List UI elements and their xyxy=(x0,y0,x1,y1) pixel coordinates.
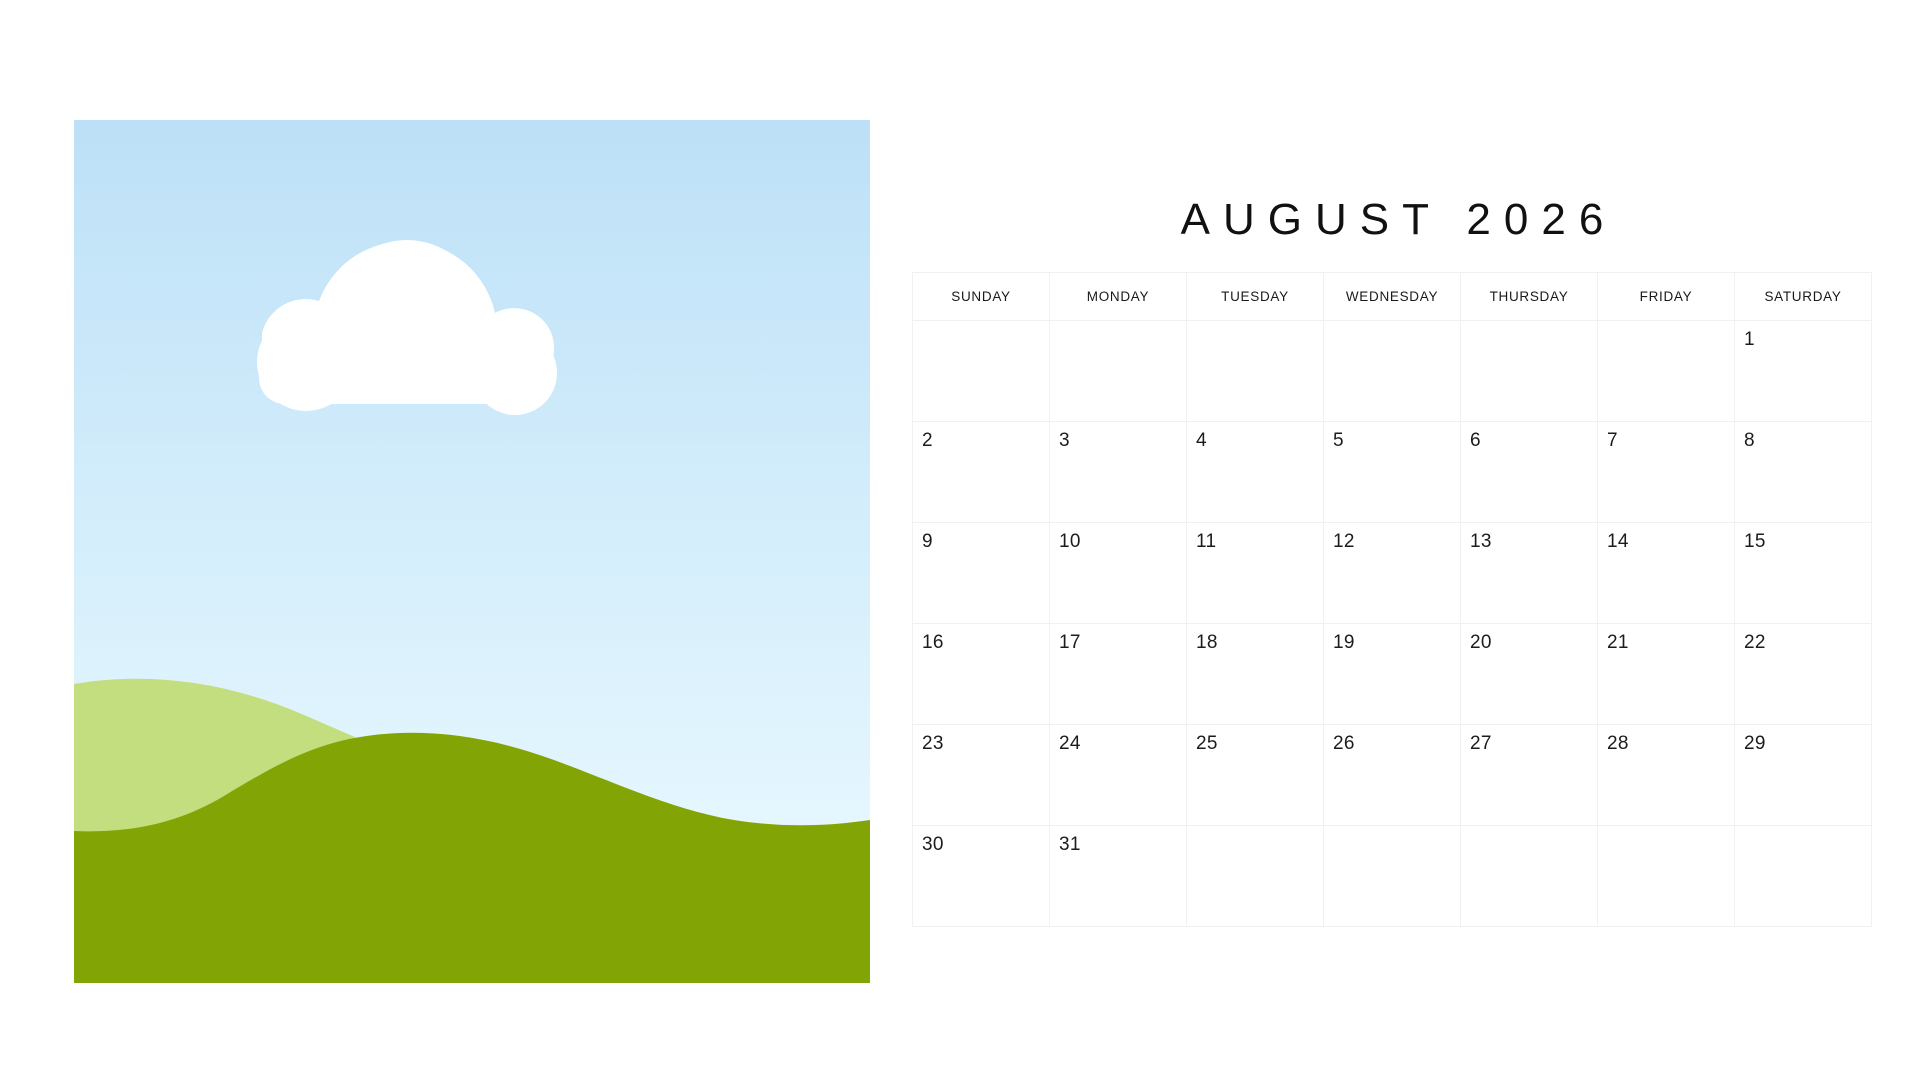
day-cell[interactable]: 7 xyxy=(1598,422,1735,523)
day-cell[interactable]: 27 xyxy=(1461,725,1598,826)
weekday-header-wednesday: WEDNESDAY xyxy=(1324,273,1461,321)
day-number: 6 xyxy=(1461,422,1597,450)
day-number: 1 xyxy=(1735,321,1871,349)
day-cell[interactable]: 10 xyxy=(1050,523,1187,624)
weekday-header-monday: MONDAY xyxy=(1050,273,1187,321)
day-cell[interactable]: 15 xyxy=(1735,523,1872,624)
weekday-header-friday: FRIDAY xyxy=(1598,273,1735,321)
day-number: 16 xyxy=(913,624,1049,652)
day-cell[interactable] xyxy=(1187,321,1324,422)
weekday-header-tuesday: TUESDAY xyxy=(1187,273,1324,321)
weekday-header-thursday: THURSDAY xyxy=(1461,273,1598,321)
day-cell[interactable]: 13 xyxy=(1461,523,1598,624)
day-cell[interactable] xyxy=(1324,826,1461,927)
day-cell[interactable]: 12 xyxy=(1324,523,1461,624)
day-number: 5 xyxy=(1324,422,1460,450)
day-cell[interactable]: 9 xyxy=(913,523,1050,624)
day-cell[interactable] xyxy=(1324,321,1461,422)
day-cell[interactable]: 16 xyxy=(913,624,1050,725)
day-cell[interactable]: 14 xyxy=(1598,523,1735,624)
calendar-page: AUGUST 2026 SUNDAY MONDAY TUESDAY WEDNES… xyxy=(0,0,1920,1080)
day-cell[interactable]: 8 xyxy=(1735,422,1872,523)
calendar-week-row: 16 17 18 19 20 21 22 xyxy=(913,624,1872,725)
day-cell[interactable] xyxy=(913,321,1050,422)
day-number: 26 xyxy=(1324,725,1460,753)
weekday-header-row: SUNDAY MONDAY TUESDAY WEDNESDAY THURSDAY… xyxy=(913,273,1872,321)
calendar-block: AUGUST 2026 SUNDAY MONDAY TUESDAY WEDNES… xyxy=(912,190,1872,927)
day-number: 22 xyxy=(1735,624,1871,652)
weekday-header-saturday: SATURDAY xyxy=(1735,273,1872,321)
day-number: 2 xyxy=(913,422,1049,450)
day-number: 3 xyxy=(1050,422,1186,450)
day-number: 15 xyxy=(1735,523,1871,551)
day-cell[interactable]: 6 xyxy=(1461,422,1598,523)
day-number: 12 xyxy=(1324,523,1460,551)
day-cell[interactable]: 4 xyxy=(1187,422,1324,523)
day-cell[interactable] xyxy=(1598,321,1735,422)
day-number: 9 xyxy=(913,523,1049,551)
day-number: 28 xyxy=(1598,725,1734,753)
calendar-title: AUGUST 2026 xyxy=(912,190,1872,250)
day-cell[interactable]: 11 xyxy=(1187,523,1324,624)
day-number: 23 xyxy=(913,725,1049,753)
calendar-table: SUNDAY MONDAY TUESDAY WEDNESDAY THURSDAY… xyxy=(912,272,1872,927)
day-cell[interactable]: 31 xyxy=(1050,826,1187,927)
day-cell[interactable]: 23 xyxy=(913,725,1050,826)
day-number: 10 xyxy=(1050,523,1186,551)
day-number: 25 xyxy=(1187,725,1323,753)
day-number: 20 xyxy=(1461,624,1597,652)
day-number: 24 xyxy=(1050,725,1186,753)
day-number: 21 xyxy=(1598,624,1734,652)
calendar-week-row: 9 10 11 12 13 14 15 xyxy=(913,523,1872,624)
day-cell[interactable]: 25 xyxy=(1187,725,1324,826)
day-cell[interactable]: 19 xyxy=(1324,624,1461,725)
day-cell[interactable] xyxy=(1461,826,1598,927)
day-cell[interactable]: 1 xyxy=(1735,321,1872,422)
day-number: 13 xyxy=(1461,523,1597,551)
calendar-body: 1 2 3 4 5 6 7 8 9 10 11 12 xyxy=(913,321,1872,927)
day-cell[interactable] xyxy=(1050,321,1187,422)
day-cell[interactable]: 18 xyxy=(1187,624,1324,725)
day-cell[interactable]: 20 xyxy=(1461,624,1598,725)
day-number: 18 xyxy=(1187,624,1323,652)
day-number: 7 xyxy=(1598,422,1734,450)
calendar-week-row: 2 3 4 5 6 7 8 xyxy=(913,422,1872,523)
day-cell[interactable]: 17 xyxy=(1050,624,1187,725)
day-cell[interactable] xyxy=(1598,826,1735,927)
day-cell[interactable]: 2 xyxy=(913,422,1050,523)
day-number: 27 xyxy=(1461,725,1597,753)
calendar-week-row: 1 xyxy=(913,321,1872,422)
day-cell[interactable]: 3 xyxy=(1050,422,1187,523)
day-cell[interactable]: 29 xyxy=(1735,725,1872,826)
day-number: 4 xyxy=(1187,422,1323,450)
calendar-week-row: 30 31 xyxy=(913,826,1872,927)
day-number: 31 xyxy=(1050,826,1186,854)
day-number: 17 xyxy=(1050,624,1186,652)
day-cell[interactable] xyxy=(1187,826,1324,927)
day-cell[interactable]: 26 xyxy=(1324,725,1461,826)
landscape-illustration xyxy=(74,120,870,983)
illustration-panel xyxy=(74,120,870,983)
day-cell[interactable]: 24 xyxy=(1050,725,1187,826)
day-number: 19 xyxy=(1324,624,1460,652)
day-cell[interactable]: 5 xyxy=(1324,422,1461,523)
day-number: 8 xyxy=(1735,422,1871,450)
day-number: 14 xyxy=(1598,523,1734,551)
day-cell[interactable]: 22 xyxy=(1735,624,1872,725)
day-number: 11 xyxy=(1187,523,1323,551)
calendar-week-row: 23 24 25 26 27 28 29 xyxy=(913,725,1872,826)
weekday-header-sunday: SUNDAY xyxy=(913,273,1050,321)
day-cell[interactable] xyxy=(1735,826,1872,927)
day-number: 29 xyxy=(1735,725,1871,753)
day-cell[interactable] xyxy=(1461,321,1598,422)
day-cell[interactable]: 30 xyxy=(913,826,1050,927)
day-cell[interactable]: 28 xyxy=(1598,725,1735,826)
day-cell[interactable]: 21 xyxy=(1598,624,1735,725)
day-number: 30 xyxy=(913,826,1049,854)
